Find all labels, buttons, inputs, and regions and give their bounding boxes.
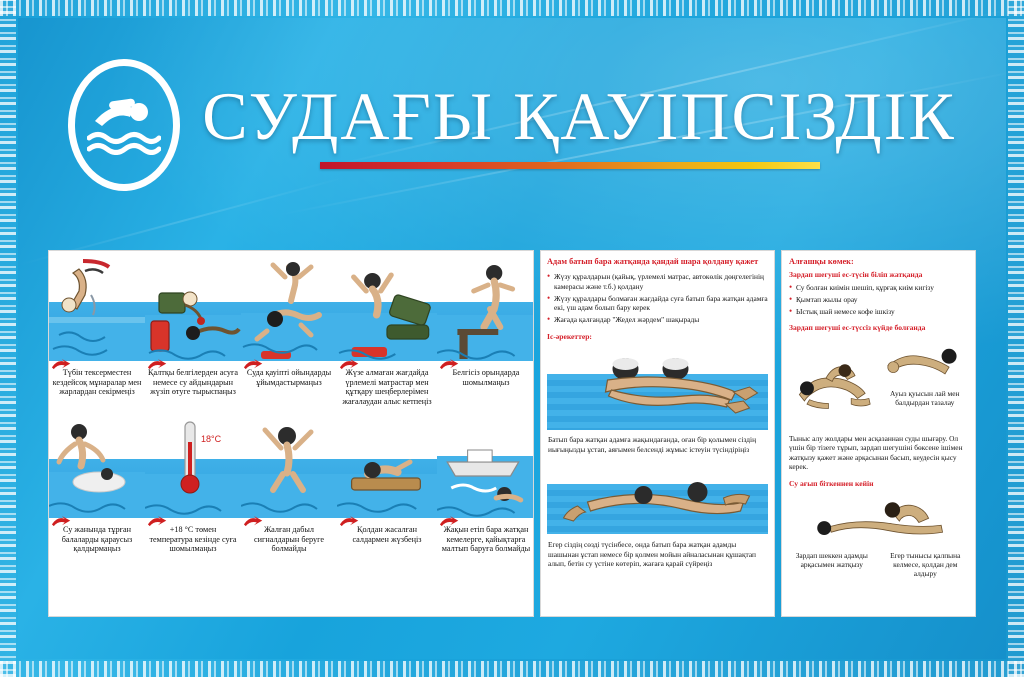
thermometer-icon: 18°C xyxy=(145,416,241,518)
draining-water-icon xyxy=(788,336,877,428)
conscious-victim-subheading: Зардап шегуші ес-түсін біліп жатқанда xyxy=(789,270,968,279)
prevention-caption: +18 °C төмен температура кезінде суға шо… xyxy=(145,525,241,554)
false-alarm-icon xyxy=(241,416,337,518)
inflatable-mattress-icon xyxy=(337,259,437,361)
frame-band-left xyxy=(0,0,16,677)
prevention-item: 18°C +18 °C төмен температура кезінде су… xyxy=(145,416,241,566)
rescue-text-2: Егер сіздің сөзді түсінбесе, онда батып … xyxy=(541,534,774,568)
prevention-item: Түбін тексерместен кездейсоқ мұнаралар м… xyxy=(49,259,145,409)
drain-water-text: Тыныс алу жолдары мен асқазаннан суды шы… xyxy=(782,428,975,472)
prevention-item: Жүзе алмаған жағдайда үрлемелі матрастар… xyxy=(337,259,437,409)
prevention-caption: Жақын етіп бара жатқан кемелерге, қайықт… xyxy=(437,525,534,554)
poster-header: СУДАҒЫ ҚАУІПСІЗДІК xyxy=(18,40,1006,210)
panels-container: Жазатайым оқиғалардың алдын алу мақсатын… xyxy=(48,250,976,617)
red-arrow-icon xyxy=(147,359,169,372)
prevention-item: Су жанында тұрған балаларды қараусыз қал… xyxy=(49,416,145,566)
frame-band-top xyxy=(0,0,1024,16)
red-arrow-icon xyxy=(51,359,73,372)
prevention-item: Қолдан жасалған салдармен жүзбеңіз xyxy=(337,416,437,566)
prevention-row-2: Су жанында тұрған балаларды қараусыз қал… xyxy=(49,416,533,566)
prevention-item: Суда қауіпті ойындарды ұйымдастырмаңыз xyxy=(241,259,337,409)
bottom-caption-1: Зардап шеккен адамды арқасымен жатқызу xyxy=(788,552,876,579)
unconscious-victim-subheading: Зардап шегуші ес-түссіз күйде болғанда xyxy=(789,323,968,332)
svg-text:18°C: 18°C xyxy=(201,434,222,444)
approaching-boat-icon xyxy=(437,416,534,518)
after-water-subheading: Су ағып біткеннен кейін xyxy=(782,472,975,488)
red-arrow-icon xyxy=(439,516,461,529)
swimming-past-buoy-icon xyxy=(145,259,241,361)
bottom-caption-2: Егер тынысы қалпына келмесе, қолдан дем … xyxy=(882,552,970,579)
clear-airway-caption: Ауыз қуысын лай мен балдырдан тазалау xyxy=(881,390,970,408)
swimmer-icon xyxy=(68,59,180,191)
page-title: СУДАҒЫ ҚАУІПСІЗДІК xyxy=(202,81,956,152)
towing-victim-icon xyxy=(547,462,768,534)
rescue-bullet-2: Жүзу құралдары болмаған жағдайда суға ба… xyxy=(547,294,768,313)
prevention-item: Қалтқы белгілерден асуға немесе су айдын… xyxy=(145,259,241,409)
unknown-place-diving-icon xyxy=(437,259,534,361)
dangerous-water-games-icon xyxy=(241,259,337,361)
prevention-item: Жақын етіп бара жатқан кемелерге, қайықт… xyxy=(437,416,534,566)
rescue-text-1: Батып бара жатқан адамға жақындағанда, о… xyxy=(541,430,774,454)
prevention-caption: Жүзе алмаған жағдайда үрлемелі матрастар… xyxy=(337,368,437,407)
first-aid-bullet-3: Ыстық шай немесе кофе ішкізу xyxy=(789,307,968,316)
red-arrow-icon xyxy=(339,516,361,529)
red-arrow-icon xyxy=(243,359,265,372)
rescue-bullet-list: Жүзу құралдарын (қайық, үрлемелі матрас,… xyxy=(547,272,768,324)
prevention-panel: Жазатайым оқиғалардың алдын алу мақсатын… xyxy=(48,250,534,617)
prevention-caption: Қалтқы белгілерден асуға немесе су айдын… xyxy=(145,368,241,397)
title-block: СУДАҒЫ ҚАУІПСІЗДІК xyxy=(202,81,956,169)
first-aid-bullet-1: Су болған киімін шешіп, құрғақ киім кигі… xyxy=(789,283,968,292)
red-arrow-icon xyxy=(51,516,73,529)
frame-band-bottom xyxy=(0,661,1024,677)
red-arrow-icon xyxy=(339,359,361,372)
unattended-children-icon xyxy=(49,416,145,518)
rescue-bullet-3: Жағада қалғандар "Жедел жәрдем" шақырады xyxy=(547,315,768,324)
first-aid-panel: Алғашқы көмек: Зардап шегуші ес-түсін бі… xyxy=(781,250,976,617)
title-underline-rule xyxy=(320,162,820,169)
two-swimmers-rescue-icon xyxy=(547,344,768,430)
red-arrow-icon xyxy=(147,516,169,529)
first-aid-bullet-2: Қымтап жылы орау xyxy=(789,295,968,304)
prevention-item: Жалған дабыл сигналдарын беруге болмайды xyxy=(241,416,337,566)
frame-band-right xyxy=(1008,0,1024,677)
red-arrow-icon xyxy=(439,359,461,372)
clearing-airway-icon xyxy=(881,336,970,386)
rescue-heading: Адам батып бара жатқанда қандай шара қол… xyxy=(547,257,768,267)
rescue-bullet-1: Жүзу құралдарын (қайық, үрлемелі матрас,… xyxy=(547,272,768,291)
diving-from-cliff-icon xyxy=(49,259,145,361)
red-arrow-icon xyxy=(243,516,265,529)
prevention-caption: Түбін тексерместен кездейсоқ мұнаралар м… xyxy=(49,368,145,397)
poster-inner: СУДАҒЫ ҚАУІПСІЗДІК Жазатайым оқиғалардың… xyxy=(18,18,1006,659)
prevention-caption: Су жанында тұрған балаларды қараусыз қал… xyxy=(49,525,145,554)
homemade-raft-icon xyxy=(337,416,437,518)
actions-subheading: Іс-әрекеттер: xyxy=(547,332,768,341)
first-aid-bullet-list: Су болған киімін шешіп, құрғақ киім кигі… xyxy=(789,283,968,316)
prevention-caption: Жалған дабыл сигналдарын беруге болмайды xyxy=(241,525,337,554)
chest-compression-icon xyxy=(788,490,969,548)
prevention-item: Белгісіз орындарда шомылмаңыз xyxy=(437,259,534,409)
prevention-row-1: Түбін тексерместен кездейсоқ мұнаралар м… xyxy=(49,259,533,409)
first-aid-heading: Алғашқы көмек: xyxy=(789,257,968,267)
rescue-actions-panel: Адам батып бара жатқанда қандай шара қол… xyxy=(540,250,775,617)
poster-root: СУДАҒЫ ҚАУІПСІЗДІК Жазатайым оқиғалардың… xyxy=(0,0,1024,677)
